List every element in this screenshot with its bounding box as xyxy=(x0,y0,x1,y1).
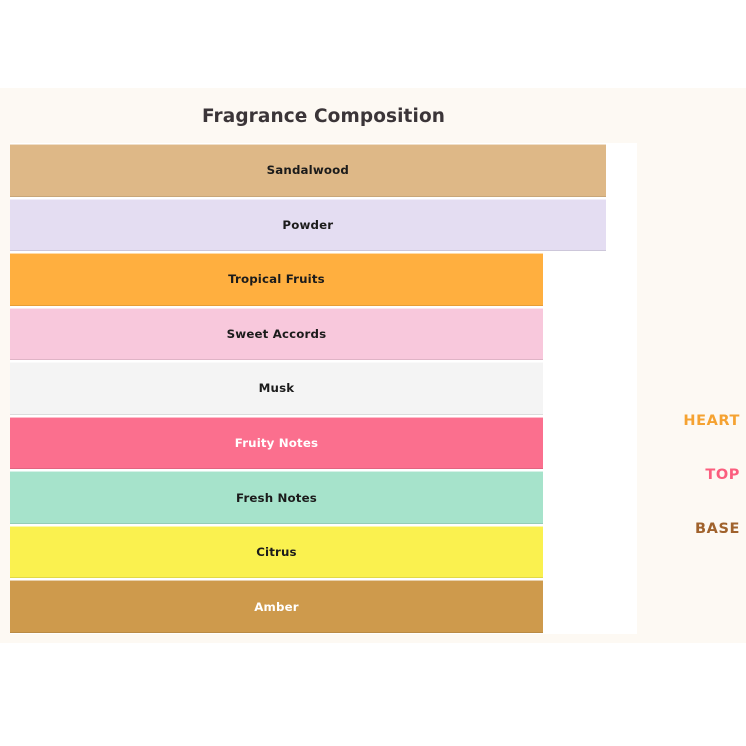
bar-amber[interactable]: Amber xyxy=(10,580,543,633)
bar-citrus[interactable]: Citrus xyxy=(10,526,543,579)
bar-row: Sweet Accords xyxy=(10,307,637,362)
legend-item-base[interactable]: BASE xyxy=(695,521,740,537)
figure-background: Fragrance Composition SandalwoodPowderTr… xyxy=(0,88,746,643)
bar-label: Amber xyxy=(254,600,298,614)
bar-row: Fruity Notes xyxy=(10,416,637,471)
plot-area: SandalwoodPowderTropical FruitsSweet Acc… xyxy=(10,143,637,634)
bar-row: Fresh Notes xyxy=(10,470,637,525)
bar-row: Amber xyxy=(10,579,637,634)
bar-label: Tropical Fruits xyxy=(228,272,325,286)
bar-row: Citrus xyxy=(10,525,637,580)
bar-label: Sandalwood xyxy=(267,163,349,177)
bar-sandalwood[interactable]: Sandalwood xyxy=(10,144,606,197)
bar-musk[interactable]: Musk xyxy=(10,362,543,415)
bar-fruity-notes[interactable]: Fruity Notes xyxy=(10,417,543,470)
bar-row: Sandalwood xyxy=(10,143,637,198)
bar-fresh-notes[interactable]: Fresh Notes xyxy=(10,471,543,524)
bar-row: Powder xyxy=(10,198,637,253)
bar-label: Musk xyxy=(259,381,295,395)
bar-row: Tropical Fruits xyxy=(10,252,637,307)
chart-canvas: Fragrance Composition SandalwoodPowderTr… xyxy=(0,0,746,746)
legend-item-top[interactable]: TOP xyxy=(705,467,740,483)
bar-label: Fresh Notes xyxy=(236,491,317,505)
bar-label: Fruity Notes xyxy=(235,436,318,450)
chart-legend: HEARTTOPBASE xyxy=(645,143,740,634)
bar-label: Powder xyxy=(282,218,333,232)
bar-tropical-fruits[interactable]: Tropical Fruits xyxy=(10,253,543,306)
bar-label: Sweet Accords xyxy=(227,327,327,341)
legend-item-heart[interactable]: HEART xyxy=(683,413,740,429)
bar-sweet-accords[interactable]: Sweet Accords xyxy=(10,308,543,361)
bar-row: Musk xyxy=(10,361,637,416)
bar-powder[interactable]: Powder xyxy=(10,199,606,252)
page-title: Fragrance Composition xyxy=(0,106,647,127)
bar-label: Citrus xyxy=(256,545,296,559)
